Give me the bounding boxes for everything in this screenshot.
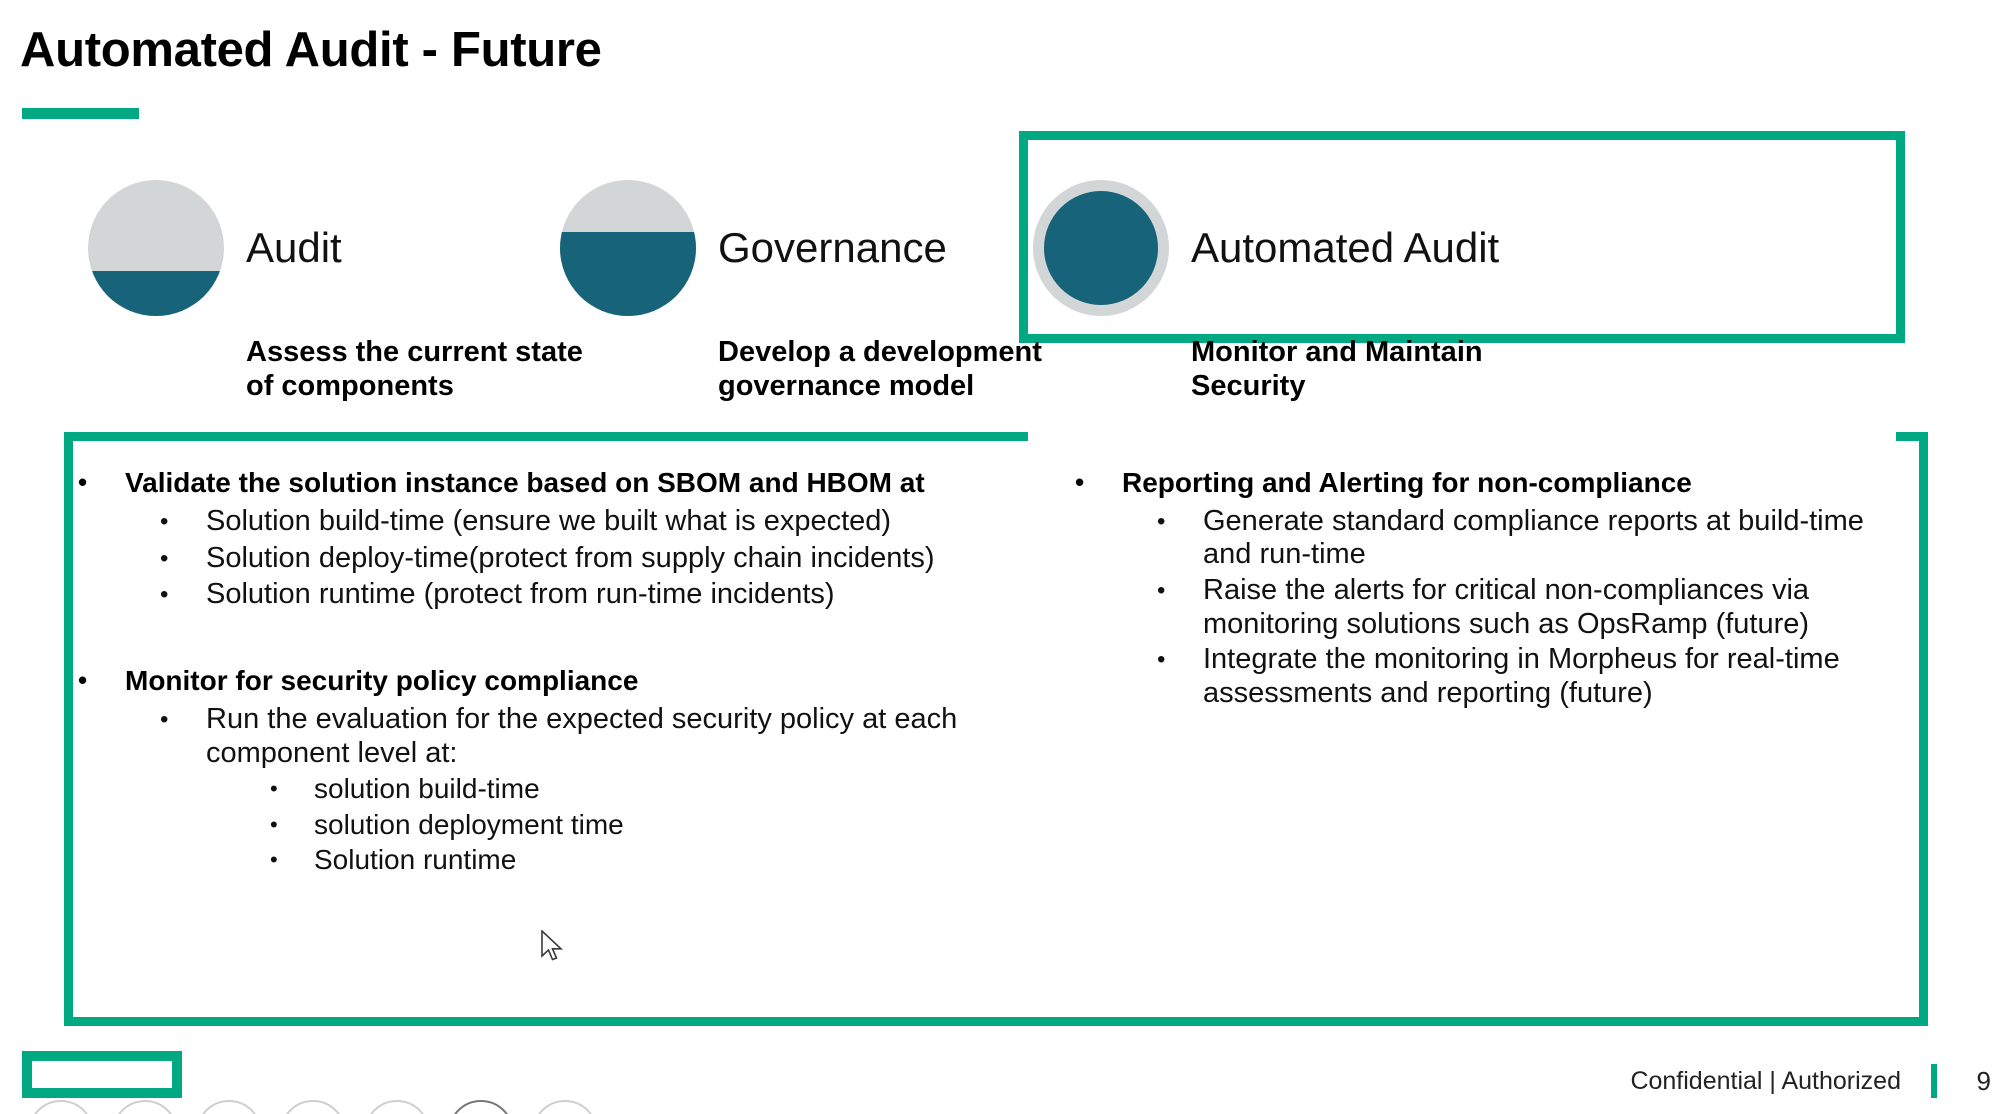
left-bullet-list: • Validate the solution instance based o… (78, 465, 1058, 879)
bullet-level2-icon: • (160, 505, 206, 540)
list-item: • Validate the solution instance based o… (78, 465, 1058, 613)
bullet-level2-icon: • (1157, 574, 1203, 641)
full-filled-circle-icon (1033, 180, 1169, 316)
list-item: • solution build-time (270, 772, 1058, 806)
left-sub3-1: solution build-time (314, 772, 540, 806)
list-item: • Generate standard compliance reports a… (1157, 505, 1915, 572)
taskbar-icon-6[interactable] (448, 1100, 514, 1114)
right-group-1-sublist: • Generate standard compliance reports a… (1075, 505, 1915, 711)
bullet-level2-icon: • (160, 578, 206, 613)
footer-right: Confidential | Authorized 9 (1630, 1064, 1991, 1098)
left-sub-1-2: Solution deploy-time(protect from supply… (206, 542, 935, 577)
list-item: • Solution runtime (protect from run-tim… (160, 578, 1058, 613)
pillar-audit-head: Audit (88, 180, 583, 316)
pillar-automated-audit-head: Automated Audit (1033, 180, 1499, 316)
pillar-automated-audit: Automated Audit Monitor and Maintain Sec… (1033, 180, 1499, 403)
right-group-1-heading: • Reporting and Alerting for non-complia… (1075, 465, 1915, 501)
list-item: • Solution deploy-time(protect from supp… (160, 542, 1058, 577)
pillar-governance: Governance Develop a development governa… (560, 180, 1042, 403)
half-filled-circle-icon (88, 180, 224, 316)
right-sub-1-2: Raise the alerts for critical non-compli… (1203, 574, 1915, 641)
bullet-level2-icon: • (1157, 643, 1203, 710)
pillar-audit-subtitle: Assess the current state of components (246, 336, 583, 403)
list-item: • solution deployment time (270, 808, 1058, 842)
right-sub-1-3: Integrate the monitoring in Morpheus for… (1203, 643, 1915, 710)
pillar-automated-audit-subtitle-line1: Monitor and Maintain (1191, 336, 1499, 370)
left-group-2-sub-sublist: • solution build-time • solution deploym… (206, 772, 1058, 877)
left-group-1-heading-text: Validate the solution instance based on … (125, 465, 925, 501)
list-item: • Run the evaluation for the expected se… (160, 703, 1058, 879)
left-sub3-2: solution deployment time (314, 808, 624, 842)
list-item: • Raise the alerts for critical non-comp… (1157, 574, 1915, 641)
bullet-level3-icon: • (270, 843, 314, 877)
taskbar-icon-7[interactable] (532, 1100, 598, 1114)
pillar-audit: Audit Assess the current state of compon… (88, 180, 583, 403)
two-thirds-filled-circle-icon (560, 180, 696, 316)
bullet-level2-icon: • (160, 703, 206, 879)
classification-label: Confidential | Authorized (1630, 1067, 1901, 1096)
left-group-1-heading: • Validate the solution instance based o… (78, 465, 1058, 501)
bullet-level1-icon: • (78, 663, 125, 699)
right-sub-1-1: Generate standard compliance reports at … (1203, 505, 1915, 572)
mouse-cursor-icon (540, 930, 566, 964)
list-item: • Integrate the monitoring in Morpheus f… (1157, 643, 1915, 710)
pillar-audit-subtitle-line1: Assess the current state (246, 336, 583, 370)
pillar-automated-audit-label: Automated Audit (1191, 224, 1499, 272)
bullet-level2-icon: • (1157, 505, 1203, 572)
taskbar-icon-5[interactable] (364, 1100, 430, 1114)
taskbar (0, 1100, 2013, 1114)
slide-canvas: Automated Audit - Future Audit Assess th… (0, 0, 2013, 1114)
left-group-2-heading-text: Monitor for security policy compliance (125, 663, 638, 699)
hpe-logo (22, 1051, 182, 1098)
content-left-column: • Validate the solution instance based o… (78, 465, 1058, 887)
title-underline-rule (22, 108, 139, 119)
left-group-2-heading: • Monitor for security policy compliance (78, 663, 1058, 699)
list-spacer (78, 621, 1058, 655)
right-bullet-list: • Reporting and Alerting for non-complia… (1075, 465, 1915, 711)
pillar-automated-audit-subtitle: Monitor and Maintain Security (1191, 336, 1499, 403)
pillar-audit-label: Audit (246, 224, 342, 272)
left-sub-1-3: Solution runtime (protect from run-time … (206, 578, 835, 613)
left-group-2-sublist: • Run the evaluation for the expected se… (78, 703, 1058, 879)
bullet-level3-icon: • (270, 808, 314, 842)
left-sub-1-1: Solution build-time (ensure we built wha… (206, 505, 891, 540)
pillar-governance-label: Governance (718, 224, 947, 272)
page-title: Automated Audit - Future (20, 22, 602, 78)
pillar-governance-head: Governance (560, 180, 1042, 316)
list-item: • Monitor for security policy compliance… (78, 663, 1058, 879)
left-sub-2-1: Run the evaluation for the expected secu… (206, 703, 957, 769)
left-group-1-sublist: • Solution build-time (ensure we built w… (78, 505, 1058, 613)
taskbar-icon-4[interactable] (280, 1100, 346, 1114)
pillar-governance-subtitle-line1: Develop a development (718, 336, 1042, 370)
bullet-level1-icon: • (1075, 465, 1122, 501)
taskbar-icon-3[interactable] (196, 1100, 262, 1114)
box-join-mask (1028, 424, 1896, 442)
page-number: 9 (1971, 1066, 1991, 1097)
left-sub3-3: Solution runtime (314, 843, 516, 877)
footer-divider (1931, 1064, 1937, 1098)
list-item: • Reporting and Alerting for non-complia… (1075, 465, 1915, 711)
taskbar-icon-1[interactable] (28, 1100, 94, 1114)
bullet-level2-icon: • (160, 542, 206, 577)
pillar-automated-audit-subtitle-line2: Security (1191, 370, 1499, 404)
taskbar-icon-2[interactable] (112, 1100, 178, 1114)
pillar-governance-subtitle-line2: governance model (718, 370, 1042, 404)
bullet-level1-icon: • (78, 465, 125, 501)
right-group-1-heading-text: Reporting and Alerting for non-complianc… (1122, 465, 1692, 501)
pillar-audit-subtitle-line2: of components (246, 370, 583, 404)
content-right-column: • Reporting and Alerting for non-complia… (1075, 465, 1915, 719)
list-item: • Solution build-time (ensure we built w… (160, 505, 1058, 540)
list-item: • Solution runtime (270, 843, 1058, 877)
pillar-governance-subtitle: Develop a development governance model (718, 336, 1042, 403)
bullet-level3-icon: • (270, 772, 314, 806)
